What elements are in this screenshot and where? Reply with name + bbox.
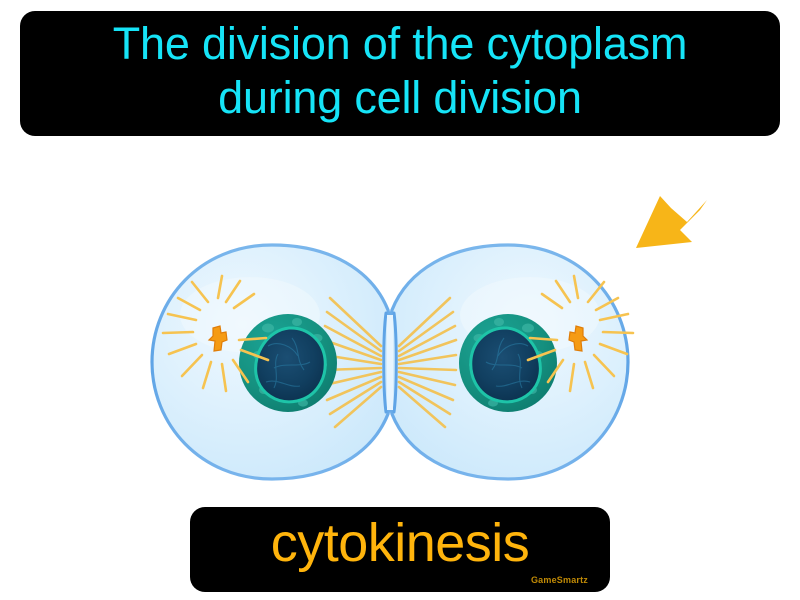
answer-term: cytokinesis (190, 516, 610, 570)
left-nucleus (239, 314, 337, 412)
cell-division-svg (0, 150, 800, 490)
answer-term-banner: cytokinesis GameSmartz (190, 507, 610, 592)
definition-title-banner: The division of the cytoplasm during cel… (20, 11, 780, 136)
pointer-arrow-shape (636, 196, 707, 248)
pointer-arrow (636, 196, 707, 248)
furrow-gap (387, 315, 393, 410)
right-nucleus (459, 314, 557, 412)
definition-card: The division of the cytoplasm during cel… (0, 0, 800, 600)
page-title: The division of the cytoplasm during cel… (113, 17, 687, 123)
watermark-label: GameSmartz (531, 575, 588, 585)
cytokinesis-illustration (0, 150, 800, 490)
